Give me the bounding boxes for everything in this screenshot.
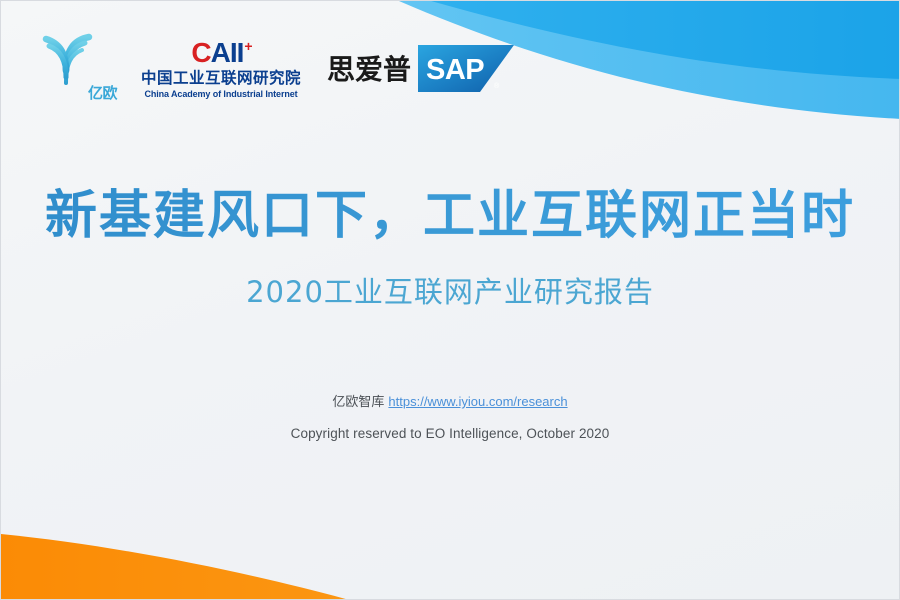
page-subtitle: 2020工业互联网产业研究报告	[1, 269, 899, 311]
title-block: 新基建风口下，工业互联网正当时 2020工业互联网产业研究报告	[1, 187, 899, 311]
credit-organization: 亿欧智库	[332, 395, 384, 410]
wave-orange	[1, 534, 353, 600]
copyright-line: Copyright reserved to EO Intelligence, O…	[1, 426, 899, 441]
caii-wordmark: CAII+	[191, 39, 250, 67]
caii-logo: CAII+ 中国工业互联网研究院 China Academy of Indust…	[141, 37, 301, 99]
credits-block: 亿欧智库https://www.iyiou.com/research Copyr…	[1, 393, 899, 441]
credit-source-line: 亿欧智库https://www.iyiou.com/research	[1, 393, 899, 412]
sap-cn-label: 思爱普	[327, 48, 411, 88]
caii-en-label: China Academy of Industrial Internet	[144, 90, 297, 99]
logo-bar: 亿欧 CAII+ 中国工业互联网研究院 China Academy of Ind…	[37, 31, 514, 105]
svg-text:®: ®	[494, 82, 500, 90]
caii-cn-label: 中国工业互联网研究院	[141, 71, 301, 87]
title-slide: 亿欧 CAII+ 中国工业互联网研究院 China Academy of Ind…	[0, 0, 900, 600]
caii-letters-aii: AII	[211, 39, 244, 67]
svg-text:SAP: SAP	[426, 54, 484, 86]
page-title: 新基建风口下，工业互联网正当时	[1, 187, 899, 247]
caii-plus-mark: +	[244, 39, 251, 53]
eo-logo-cn-label: 亿欧	[88, 82, 117, 103]
sap-logo: 思爱普 SAP ®	[327, 45, 514, 92]
research-url-link[interactable]: https://www.iyiou.com/research	[388, 394, 567, 409]
sap-wordmark: SAP ®	[418, 45, 514, 92]
eo-intelligence-logo: 亿欧	[37, 31, 115, 105]
sap-mark-icon: SAP ®	[418, 45, 514, 92]
caii-letter-c: C	[191, 39, 210, 67]
